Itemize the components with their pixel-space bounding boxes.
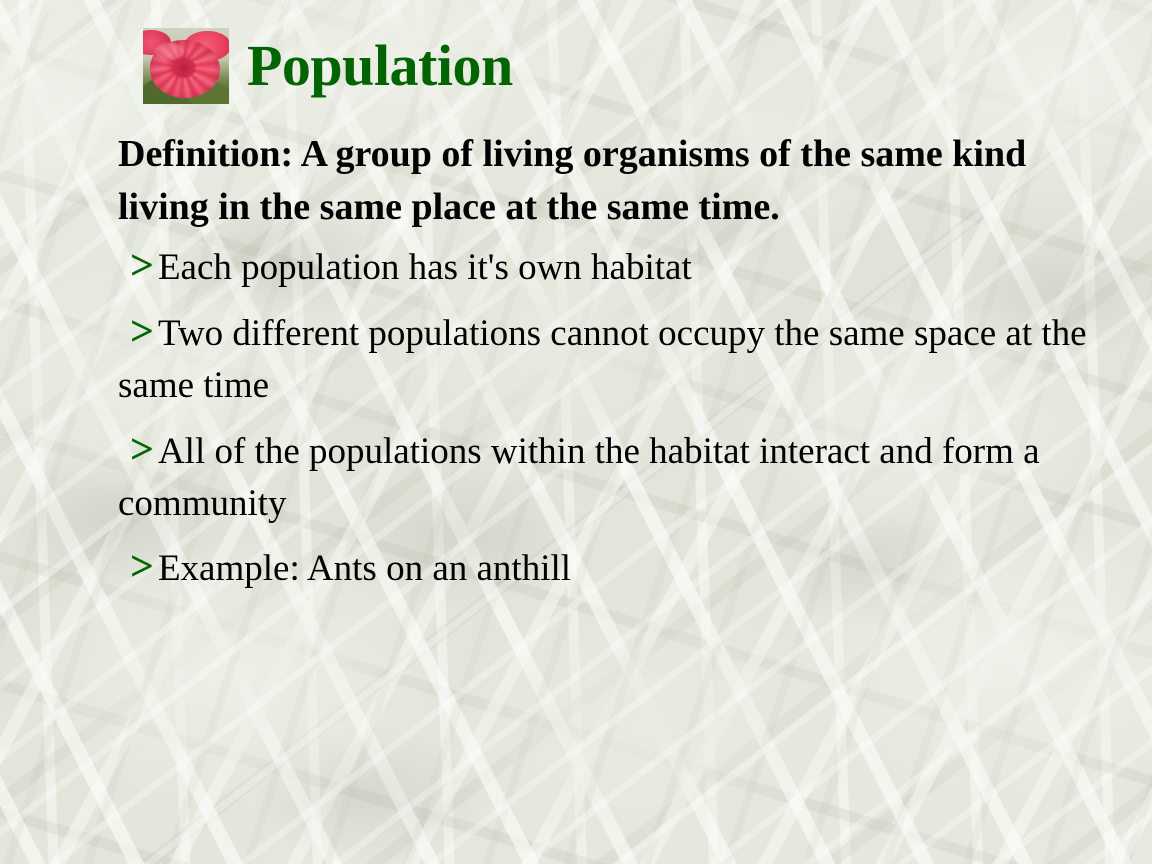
list-item-label: All of the populations within the habita… [118,431,1040,524]
slide-title-row: Population [143,28,513,104]
list-item: >Two different populations cannot occupy… [118,308,1148,412]
carnation-flower-photo [143,28,229,104]
list-item-label: Example: Ants on an anthill [158,548,571,589]
list-item-label: Each population has it's own habitat [158,247,692,288]
definition-paragraph: Definition: A group of living organisms … [118,128,1078,234]
chevron-bullet-icon: > [118,309,154,355]
slide: Population Definition: A group of living… [0,0,1152,864]
list-item: >Each population has it's own habitat [118,242,1148,294]
chevron-bullet-icon: > [118,427,154,473]
bullet-list: >Each population has it's own habitat >T… [118,242,1148,595]
chevron-bullet-icon: > [118,243,154,289]
chevron-bullet-icon: > [118,544,154,590]
list-item: >All of the populations within the habit… [118,426,1148,530]
list-item: >Example: Ants on an anthill [118,543,1148,595]
slide-body: Definition: A group of living organisms … [118,128,1148,595]
bloom-highlight [155,43,184,60]
list-item-label: Two different populations cannot occupy … [118,313,1087,406]
page-title: Population [247,37,513,95]
